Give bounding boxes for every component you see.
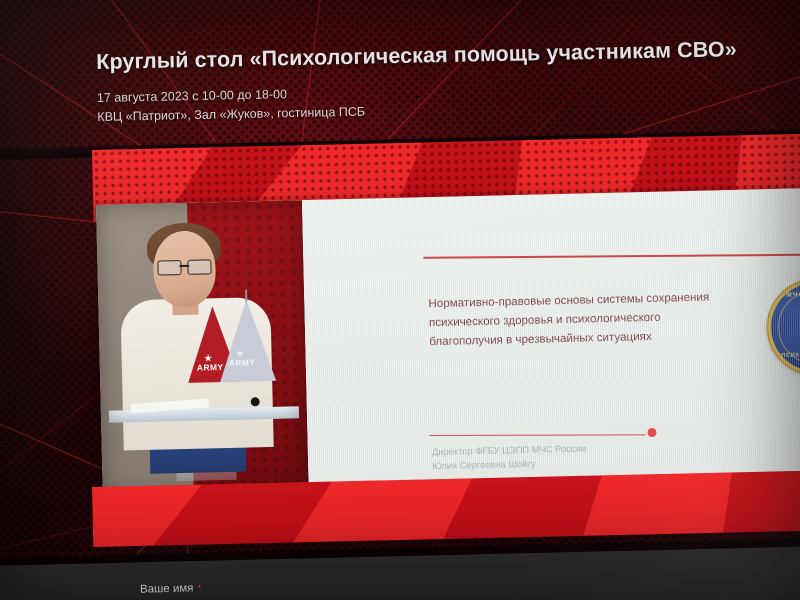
emblem-top-text: МЧС РОССИИ <box>770 290 800 299</box>
emblem-bottom-text: ПСИХОЛОГИЧЕСКАЯ СЛУЖБА <box>772 351 800 365</box>
presentation-slide[interactable]: ★ ARMY ★ ARMY Нормативно-правовые основы… <box>96 188 800 497</box>
slide-attribution: Директор ФГБУ ЦЭПП МЧС России Юлия Серге… <box>432 439 683 473</box>
speaker-photo: ★ ARMY ★ ARMY <box>96 200 309 497</box>
photo-vignette <box>96 200 309 497</box>
slide-content: Нормативно-правовые основы системы сохра… <box>302 188 800 492</box>
event-header: Круглый стол «Психологическая помощь уча… <box>96 36 777 127</box>
slide-rule-dot <box>647 428 656 437</box>
screen-photo: Круглый стол «Психологическая помощь уча… <box>0 0 800 600</box>
name-label-text: Ваше имя <box>140 582 194 595</box>
slide-bottom-rule <box>430 434 646 436</box>
slide-top-rule <box>423 253 800 258</box>
name-field-label: Ваше имя* <box>140 582 202 595</box>
emercom-psychological-service-emblem-icon: МЧС РОССИИ ♕ Ψ ПСИХОЛОГИЧЕСКАЯ СЛУЖБА <box>767 279 800 375</box>
slide-title: Нормативно-правовые основы системы сохра… <box>428 288 729 351</box>
required-marker: * <box>197 583 201 594</box>
